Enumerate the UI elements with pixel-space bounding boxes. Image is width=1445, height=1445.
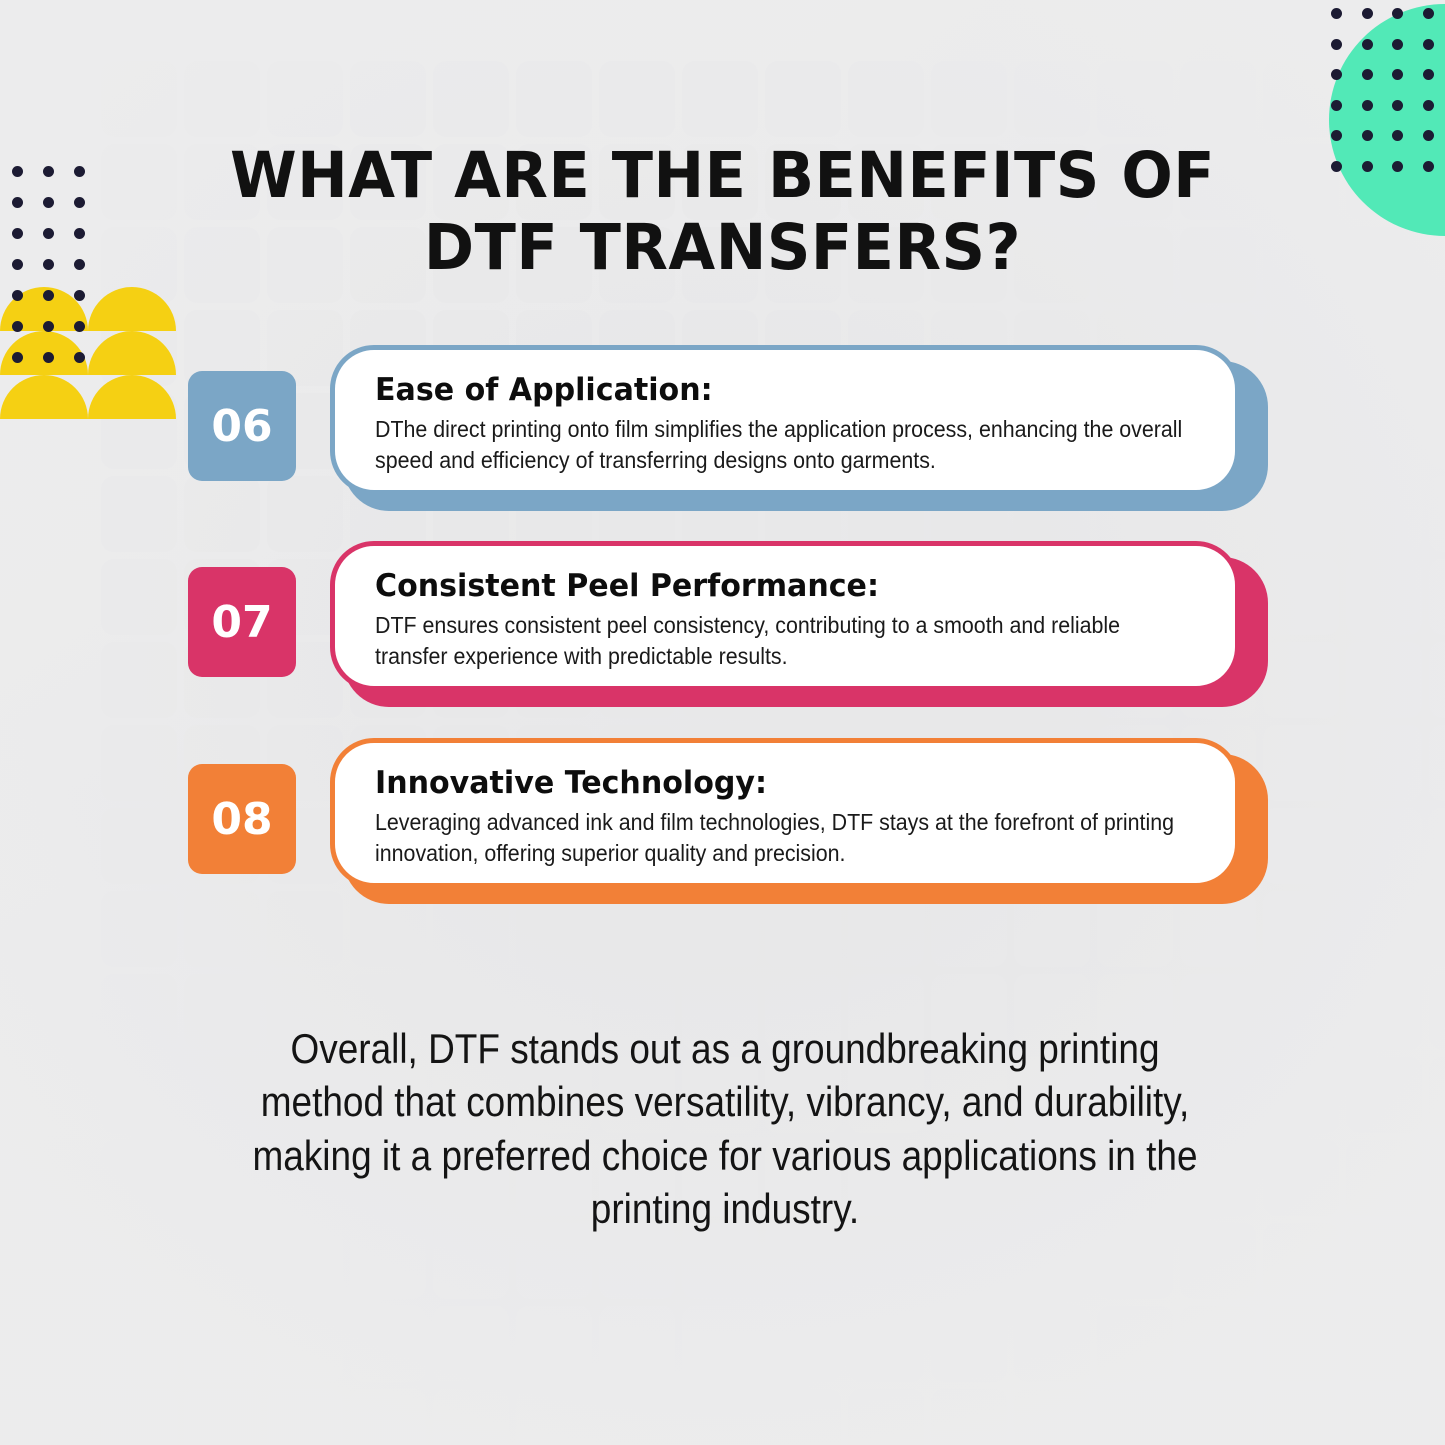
number-badge-07: 07 [188,567,296,677]
number-badge-08: 08 [188,764,296,874]
benefit-card-07-body: DTF ensures consistent peel consistency,… [375,610,1197,672]
benefit-card-08[interactable]: Innovative Technology: Leveraging advanc… [330,738,1240,888]
benefit-card-08-title: Innovative Technology: [375,765,1176,801]
number-badge-06-label: 06 [211,401,272,452]
benefit-card-07[interactable]: Consistent Peel Performance: DTF ensures… [330,541,1240,691]
number-badge-06: 06 [188,371,296,481]
number-badge-08-label: 08 [211,794,272,845]
benefit-card-06-title: Ease of Application: [375,372,1176,408]
benefit-card-06-body: DThe direct printing onto film simplifie… [375,414,1197,476]
infographic-canvas: WHAT ARE THE BENEFITS OF DTF TRANSFERS? … [0,0,1445,1445]
benefit-card-08-body: Leveraging advanced ink and film technol… [375,807,1197,869]
benefit-card-06[interactable]: Ease of Application: DThe direct printin… [330,345,1240,495]
number-badge-07-label: 07 [211,597,272,648]
benefit-card-07-title: Consistent Peel Performance: [375,568,1176,604]
page-title: WHAT ARE THE BENEFITS OF DTF TRANSFERS? [197,140,1248,284]
conclusion-paragraph: Overall, DTF stands out as a groundbreak… [250,1022,1200,1235]
